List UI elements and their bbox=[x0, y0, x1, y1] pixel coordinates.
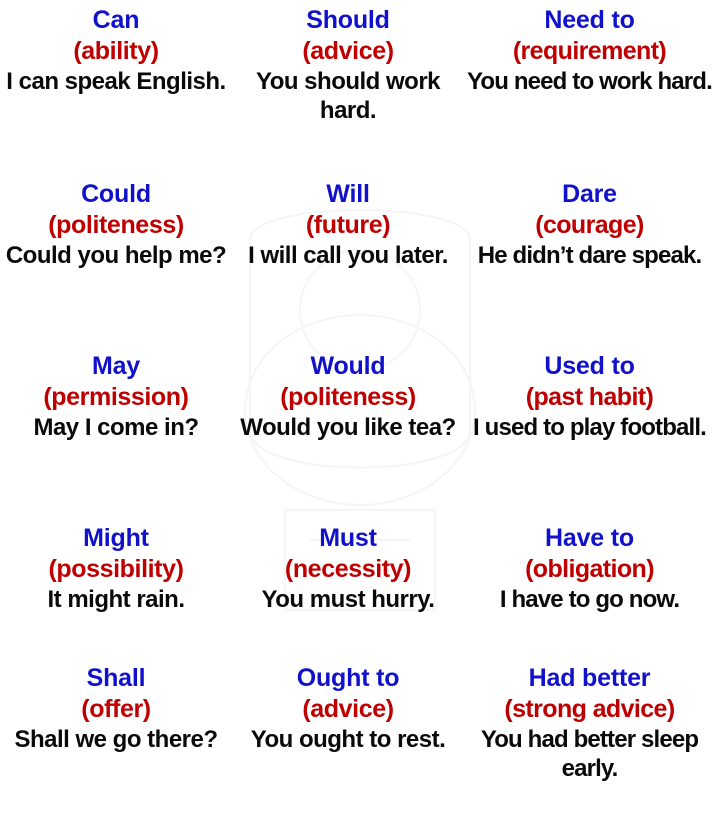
modal-verb-title: Would bbox=[311, 352, 386, 382]
modal-cell: Must(necessity)You must hurry. bbox=[232, 512, 464, 652]
modal-function-label: (strong advice) bbox=[504, 694, 674, 724]
modal-function-label: (past habit) bbox=[526, 382, 654, 412]
modal-cell: Should(advice)You should work hard. bbox=[232, 0, 464, 168]
modal-example-sentence: May I come in? bbox=[33, 413, 198, 442]
modal-cell: May(permission)May I come in? bbox=[0, 340, 232, 512]
modal-cell: Had better(strong advice)You had better … bbox=[464, 652, 715, 820]
modal-verb-title: Used to bbox=[544, 352, 634, 382]
modal-function-label: (future) bbox=[306, 210, 390, 240]
modal-verb-title: Should bbox=[306, 6, 390, 36]
modal-function-label: (politeness) bbox=[280, 382, 416, 412]
modal-verb-title: Might bbox=[83, 524, 149, 554]
modal-function-label: (advice) bbox=[302, 36, 393, 66]
modal-function-label: (politeness) bbox=[48, 210, 184, 240]
modal-verb-title: Dare bbox=[562, 180, 617, 210]
modal-verb-title: Ought to bbox=[297, 664, 400, 694]
modal-function-label: (necessity) bbox=[285, 554, 411, 584]
modal-verb-title: Could bbox=[81, 180, 151, 210]
modal-function-label: (ability) bbox=[73, 36, 158, 66]
modal-verbs-chart: Can(ability)I can speak English.Should(a… bbox=[0, 0, 715, 820]
modal-example-sentence: Shall we go there? bbox=[14, 725, 217, 754]
modal-verbs-grid: Can(ability)I can speak English.Should(a… bbox=[0, 0, 715, 820]
modal-example-sentence: You must hurry. bbox=[262, 585, 435, 614]
modal-function-label: (requirement) bbox=[513, 36, 666, 66]
modal-verb-title: Will bbox=[326, 180, 369, 210]
modal-cell: Can(ability)I can speak English. bbox=[0, 0, 232, 168]
modal-function-label: (permission) bbox=[43, 382, 188, 412]
modal-example-sentence: It might rain. bbox=[48, 585, 185, 614]
modal-function-label: (courage) bbox=[535, 210, 644, 240]
modal-example-sentence: I used to play football. bbox=[473, 413, 706, 442]
modal-example-sentence: He didn’t dare speak. bbox=[478, 241, 702, 270]
modal-cell: Used to(past habit)I used to play footba… bbox=[464, 340, 715, 512]
modal-verb-title: Can bbox=[93, 6, 140, 36]
modal-example-sentence: You need to work hard. bbox=[467, 67, 712, 96]
modal-cell: Have to(obligation)I have to go now. bbox=[464, 512, 715, 652]
modal-function-label: (offer) bbox=[81, 694, 150, 724]
modal-example-sentence: Could you help me? bbox=[6, 241, 226, 270]
modal-example-sentence: I will call you later. bbox=[248, 241, 448, 270]
modal-verb-title: Had better bbox=[529, 664, 651, 694]
modal-function-label: (obligation) bbox=[525, 554, 654, 584]
modal-function-label: (possibility) bbox=[48, 554, 183, 584]
modal-cell: Might(possibility)It might rain. bbox=[0, 512, 232, 652]
modal-function-label: (advice) bbox=[302, 694, 393, 724]
modal-cell: Ought to(advice)You ought to rest. bbox=[232, 652, 464, 820]
modal-cell: Could(politeness)Could you help me? bbox=[0, 168, 232, 340]
modal-cell: Shall(offer)Shall we go there? bbox=[0, 652, 232, 820]
modal-cell: Would(politeness)Would you like tea? bbox=[232, 340, 464, 512]
modal-cell: Need to(requirement)You need to work har… bbox=[464, 0, 715, 168]
modal-verb-title: May bbox=[92, 352, 140, 382]
modal-example-sentence: I have to go now. bbox=[500, 585, 679, 614]
modal-cell: Dare(courage)He didn’t dare speak. bbox=[464, 168, 715, 340]
modal-verb-title: Need to bbox=[544, 6, 634, 36]
modal-example-sentence: You had better sleep early. bbox=[466, 725, 713, 784]
modal-example-sentence: I can speak English. bbox=[6, 67, 225, 96]
modal-example-sentence: Would you like tea? bbox=[240, 413, 455, 442]
modal-example-sentence: You ought to rest. bbox=[251, 725, 446, 754]
modal-verb-title: Have to bbox=[545, 524, 634, 554]
modal-cell: Will(future)I will call you later. bbox=[232, 168, 464, 340]
modal-verb-title: Shall bbox=[87, 664, 146, 694]
modal-verb-title: Must bbox=[319, 524, 377, 554]
modal-example-sentence: You should work hard. bbox=[234, 67, 462, 126]
